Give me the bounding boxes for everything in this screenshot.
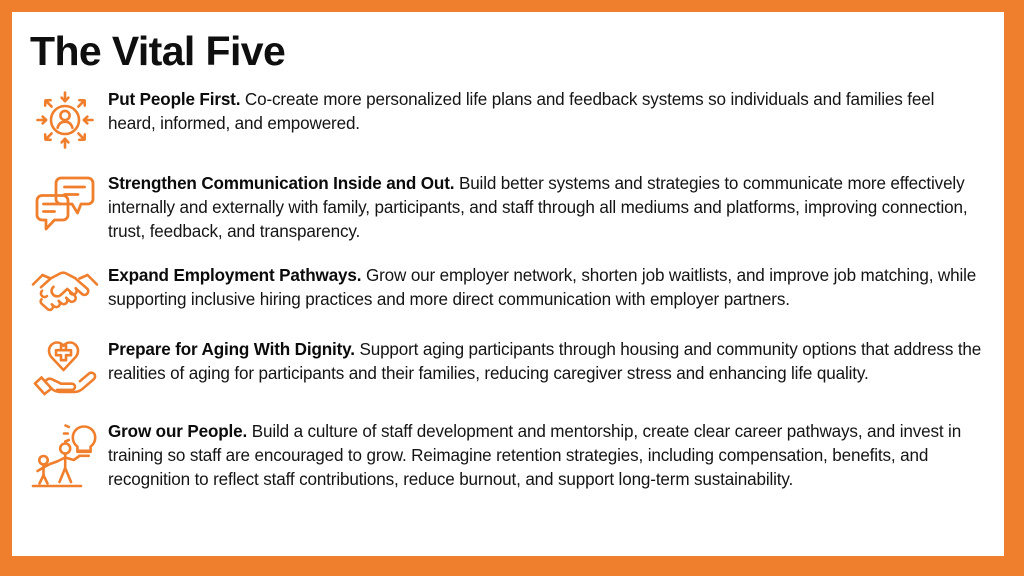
list-item-lead: Prepare for Aging With Dignity. (108, 340, 355, 359)
list-item: Prepare for Aging With Dignity. Support … (22, 336, 990, 400)
list-item-text: Grow our People. Build a culture of staf… (108, 418, 990, 492)
vital-five-list: Put People First. Co-create more persona… (22, 86, 990, 492)
slide-card: The Vital Five (12, 12, 1004, 556)
list-item: Expand Employment Pathways. Grow our emp… (22, 262, 990, 318)
speech-bubbles-icon (22, 170, 108, 232)
list-item-lead: Strengthen Communication Inside and Out. (108, 174, 454, 193)
list-item: Put People First. Co-create more persona… (22, 86, 990, 152)
hand-holding-heart-cross-icon (22, 336, 108, 400)
list-item-lead: Expand Employment Pathways. (108, 266, 361, 285)
page-title: The Vital Five (30, 31, 990, 72)
list-item-text: Put People First. Co-create more persona… (108, 86, 990, 136)
list-item: Strengthen Communication Inside and Out.… (22, 170, 990, 244)
list-item-lead: Grow our People. (108, 422, 247, 441)
slide-frame: The Vital Five (0, 0, 1024, 576)
list-item-text: Expand Employment Pathways. Grow our emp… (108, 262, 990, 312)
person-inward-arrows-icon (22, 86, 108, 152)
list-item: Grow our People. Build a culture of staf… (22, 418, 990, 492)
list-item-text: Strengthen Communication Inside and Out.… (108, 170, 990, 244)
list-item-text: Prepare for Aging With Dignity. Support … (108, 336, 990, 386)
list-item-lead: Put People First. (108, 90, 240, 109)
handshake-icon (22, 262, 108, 318)
people-helping-lightbulb-icon (22, 418, 108, 490)
